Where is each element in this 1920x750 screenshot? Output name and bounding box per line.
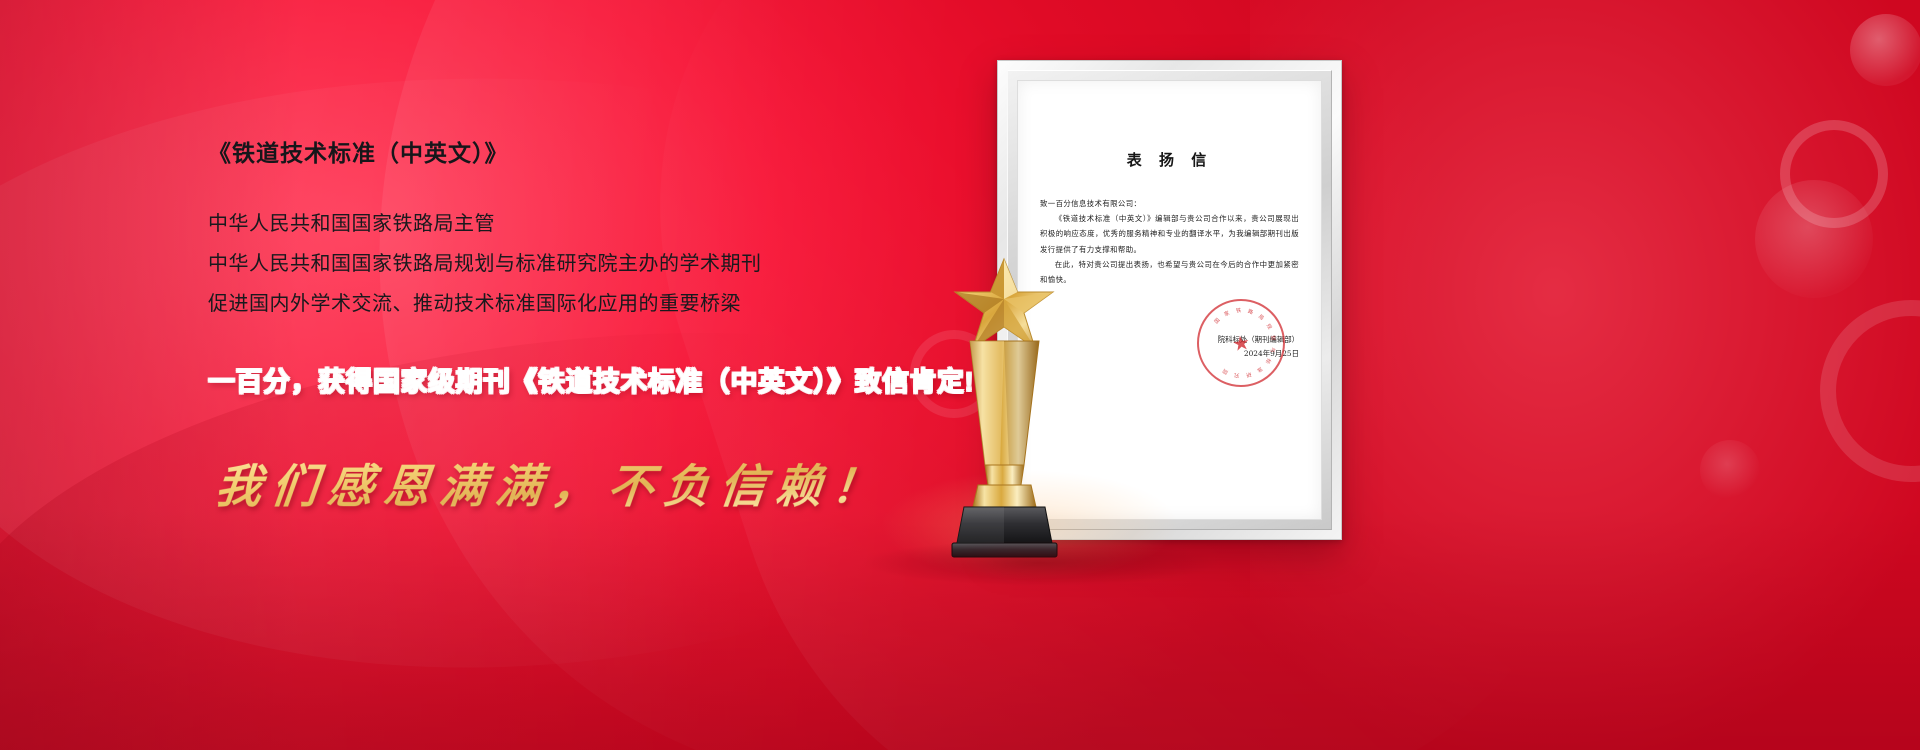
certificate-title: 表 扬 信 bbox=[1040, 149, 1299, 170]
bokeh-ring-2 bbox=[1820, 300, 1920, 482]
bokeh-circle-3 bbox=[1700, 440, 1760, 500]
body-line-3: 促进国内外学术交流、推动技术标准国际化应用的重要桥梁 bbox=[208, 294, 968, 314]
certificate-paragraph-1: 《铁道技术标准（中英文）》编辑部与贵公司合作以来，贵公司展现出积极的响应态度，优… bbox=[1040, 211, 1299, 257]
gold-star-trophy-icon bbox=[912, 255, 1097, 565]
bokeh-circle-2 bbox=[1755, 180, 1873, 298]
red-seal-stamp: ★ 国家铁路局规划与标准研究院 bbox=[1191, 293, 1292, 394]
gratitude-calligraphy: 我们感恩满满，不负信赖！ bbox=[213, 450, 972, 516]
journal-title: 《铁道技术标准（中英文）》 bbox=[208, 140, 968, 168]
trophy-floor-shadow bbox=[860, 540, 1220, 586]
body-line-1: 中华人民共和国国家铁路局主管 bbox=[208, 214, 968, 234]
copy-column: 《铁道技术标准（中英文）》 中华人民共和国国家铁路局主管 中华人民共和国国家铁路… bbox=[208, 140, 968, 516]
seal-ring-text: 国家铁路局规划与标准研究院 bbox=[1193, 295, 1289, 391]
certificate-salutation: 致一百分信息技术有限公司： bbox=[1040, 196, 1299, 211]
body-line-2: 中华人民共和国国家铁路局规划与标准研究院主办的学术期刊 bbox=[208, 254, 968, 274]
bokeh-ring-1 bbox=[1780, 120, 1888, 228]
bokeh-circle-1 bbox=[1850, 14, 1920, 86]
award-headline: 一百分，获得国家级期刊《铁道技术标准（中英文）》致信肯定! bbox=[208, 366, 968, 398]
banner-stage: 《铁道技术标准（中英文）》 中华人民共和国国家铁路局主管 中华人民共和国国家铁路… bbox=[0, 0, 1920, 750]
